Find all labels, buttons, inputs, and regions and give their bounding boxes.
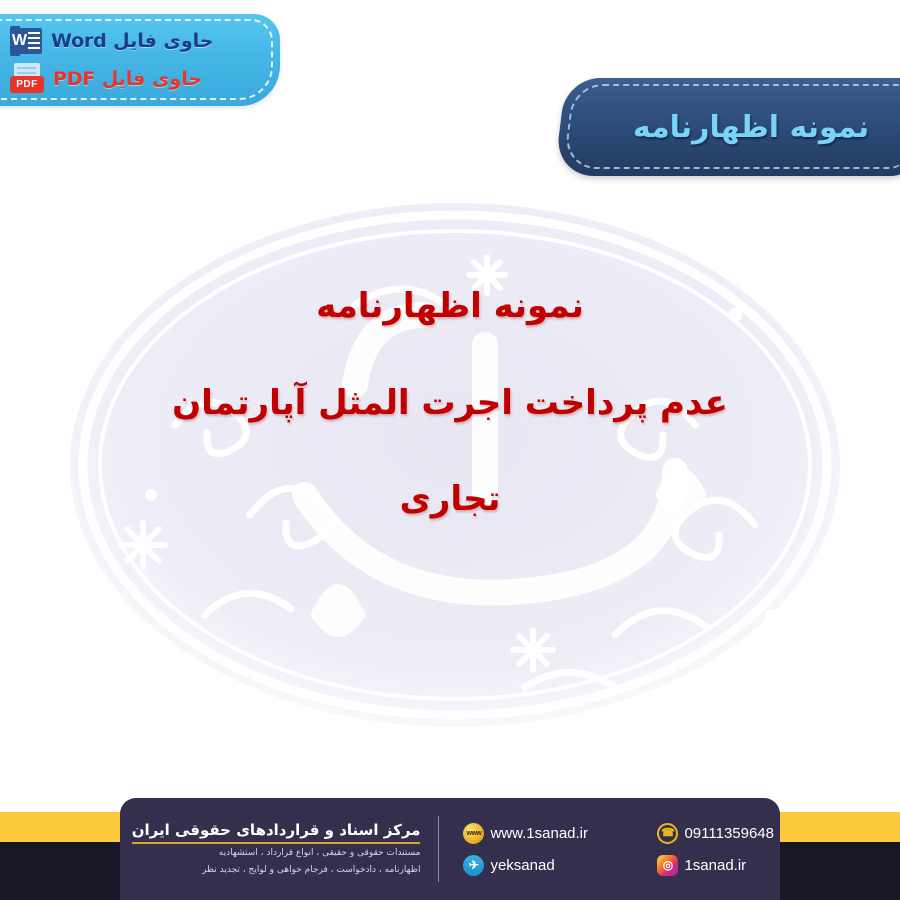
brand-tagline-2: اظهارنامه ، دادخواست ، فرجام خواهی و لوا… [132,864,421,878]
badge-label-pdf: حاوی فایل PDF [53,68,202,90]
badge-row-word: W حاوی فایل Word [10,24,262,58]
footer-divider [438,816,439,882]
brand-tagline-1: مستندات حقوقی و حقیقی ، انواع قرارداد ، … [132,847,421,861]
yeksanad-stamp-logo [120,818,122,880]
badge-label-word: حاوی فایل Word [51,30,213,52]
contact-phone[interactable]: ☎ 09111359648 [657,823,774,844]
poster-canvas: W حاوی فایل Word PDF حاوی فایل PDF نمونه… [0,0,900,900]
word-icon-letter: W [12,31,27,51]
phone-icon: ☎ [657,823,678,844]
pdf-file-icon: PDF [10,62,44,96]
contact-website[interactable]: www www.1sanad.ir [463,823,635,844]
pdf-icon-label: PDF [10,76,44,93]
headline-line-1: نمونه اظهارنامه [60,285,840,328]
page-title: نمونه اظهارنامه عدم پرداخت اجرت المثل آپ… [60,285,840,521]
banner-title-text: نمونه اظهارنامه [560,78,900,176]
contact-phone-label: 09111359648 [684,825,774,842]
telegram-icon: ✈ [463,855,484,876]
badge-row-pdf: PDF حاوی فایل PDF [10,62,262,96]
brand-text: مرکز اسناد و قراردادهای حقوقی ایران مستن… [132,821,421,877]
www-globe-icon: www [463,823,484,844]
contact-row-1: www www.1sanad.ir ☎ 09111359648 [463,823,774,844]
word-file-icon: W [10,24,42,58]
contact-telegram[interactable]: ✈ yeksanad [463,855,635,876]
footer-bar: www www.1sanad.ir ☎ 09111359648 ✈ yeksan… [120,798,780,900]
contact-list: www www.1sanad.ir ☎ 09111359648 ✈ yeksan… [449,798,780,900]
headline-line-2: عدم پرداخت اجرت المثل آپارتمان [60,382,840,425]
headline-line-3: تجاری [60,478,840,521]
brand-logo-svg [120,818,122,880]
document-type-banner: نمونه اظهارنامه [554,78,900,176]
brand-name: مرکز اسناد و قراردادهای حقوقی ایران [132,821,421,844]
brand-block: مرکز اسناد و قراردادهای حقوقی ایران مستن… [120,798,428,900]
contact-telegram-label: yeksanad [490,857,554,874]
contact-row-2: ✈ yeksanad ◎ 1sanad.ir [463,855,774,876]
contact-instagram[interactable]: ◎ 1sanad.ir [657,855,746,876]
contact-instagram-label: 1sanad.ir [684,857,746,874]
contact-website-label: www.1sanad.ir [490,825,588,842]
file-format-badge: W حاوی فایل Word PDF حاوی فایل PDF [0,14,280,106]
instagram-icon: ◎ [657,855,678,876]
